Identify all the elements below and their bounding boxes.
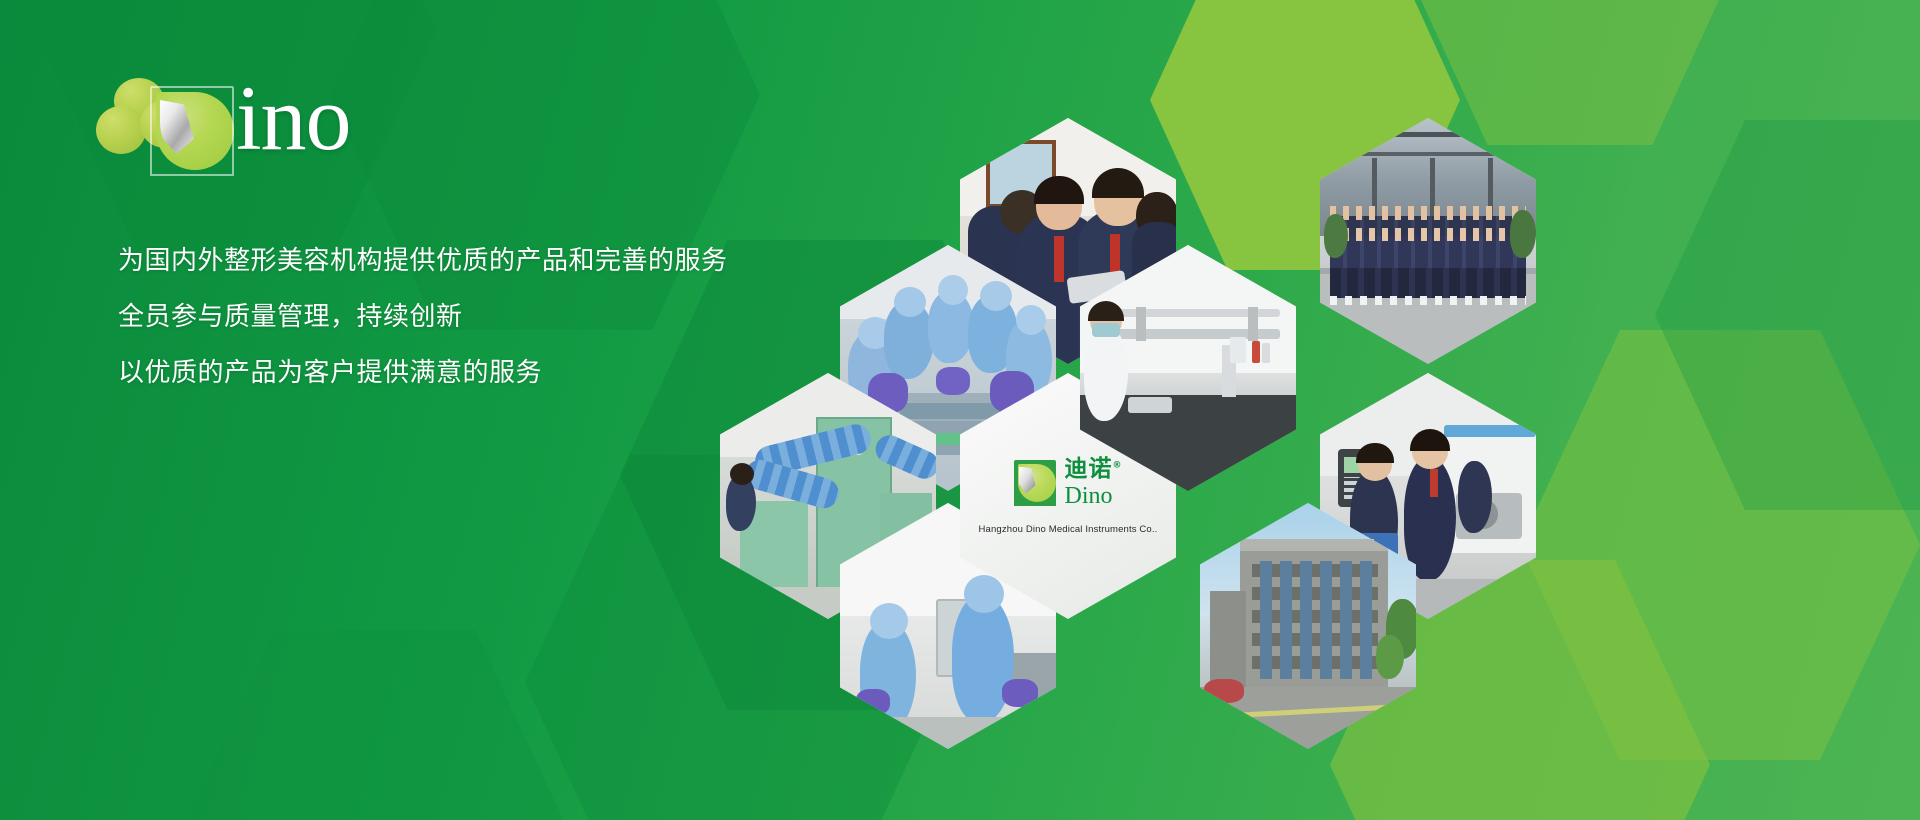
logo-frame-outline — [150, 86, 234, 176]
logo-circle-left — [96, 106, 146, 154]
logo-d-leaf-icon — [150, 86, 234, 176]
honeycomb-photo-grid: 迪诺® Dino Hangzhou Dino Medical Instrumen… — [660, 90, 1920, 690]
center-logo-cn-name: 迪诺® — [1065, 458, 1123, 481]
photo-team-group — [1320, 118, 1536, 364]
registered-mark: ® — [1113, 460, 1123, 470]
center-logo-en-name: Dino — [1065, 484, 1123, 508]
mini-dino-leaf-icon — [1014, 460, 1056, 506]
company-hero-banner: ino 为国内外整形美容机构提供优质的产品和完善的服务 全员参与质量管理，持续创… — [0, 0, 1920, 820]
center-logo-mark: 迪诺® Dino — [1014, 458, 1123, 508]
center-logo-caption: Hangzhou Dino Medical Instruments Co.. — [979, 524, 1158, 535]
logo-wordmark: ino — [236, 72, 351, 164]
cn-name-text: 迪诺 — [1065, 456, 1113, 482]
dino-brand-logo: ino — [88, 64, 508, 184]
center-logo-text-group: 迪诺® Dino — [1065, 458, 1123, 508]
hex-tile-team-group-photo[interactable] — [1320, 118, 1536, 364]
hex-dark-midleft-shape — [175, 630, 575, 820]
